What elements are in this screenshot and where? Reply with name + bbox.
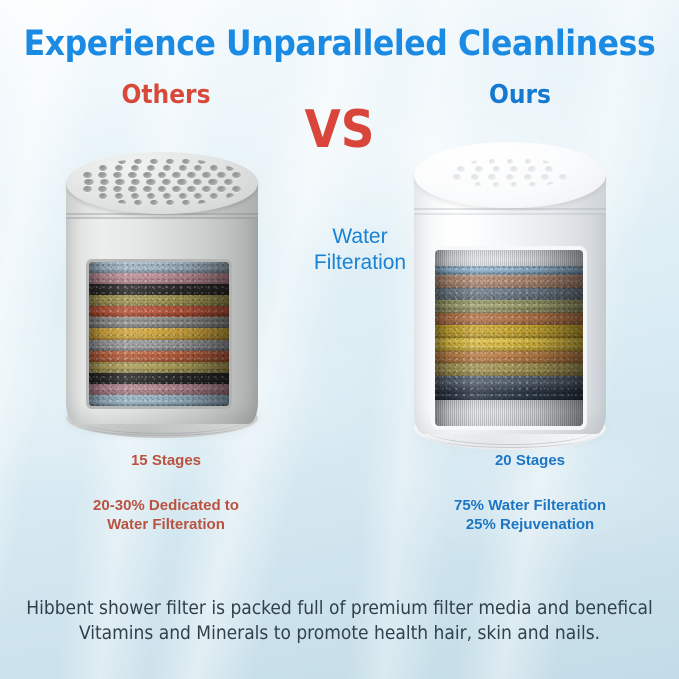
perforation-hole [131,165,139,171]
media-layer [435,351,583,364]
perforation-hole [457,166,465,172]
perforation-hole [545,166,553,172]
stages-count-ours: 20 Stages [380,452,679,470]
perforation-hole [507,159,514,164]
perforation-hole [99,165,107,171]
stages-count-others: 15 Stages [16,452,316,470]
media-layer [435,288,583,301]
perforation-hole [182,200,189,205]
perforation-hole [147,193,155,199]
perforation-hole [226,165,234,171]
perforation-hole [143,186,152,192]
media-layer [435,363,583,376]
perforation-hole [131,179,141,186]
perforation-hole [98,186,107,192]
perforation-hole [232,172,241,178]
perforation-hole [198,200,205,205]
perforation-hole [529,182,536,187]
media-layer [435,376,583,389]
media-layer [89,273,229,284]
filter-cap-ours [414,142,606,208]
perforation-hole [163,165,171,171]
perforation-hole [115,193,123,199]
filter-body-ours [414,188,606,434]
perforation-hole [118,200,125,205]
perforation-hole [232,186,241,192]
media-layer [89,362,229,373]
media-layer [89,384,229,395]
perforation-hole [210,193,218,199]
filter-cartridge-ours [414,142,606,434]
center-feature-label-line1: Water [332,225,387,248]
media-layer [435,300,583,313]
mesh-screen-top-ours [435,250,583,266]
media-layer [89,373,229,384]
perforation-hole [163,193,171,199]
perforation-hole [128,172,137,178]
media-layer [89,328,229,339]
perforation-hole [493,166,501,172]
center-feature-label-line2: Filteration [314,251,406,274]
perforation-hole [100,179,110,186]
perforation-hole [547,182,554,187]
infographic-canvas: Experience Unparalleled Cleanliness Othe… [0,0,679,679]
caption-ours: 20 Stages 75% Water Filteration 25% Reju… [380,452,679,534]
perforation-hole [471,174,479,180]
detail-ours-line1: 75% Water Filteration [454,497,606,514]
perforation-hole [187,186,196,192]
perforation-hole [541,174,549,180]
perforation-hole [177,179,187,186]
perforation-hole [134,159,141,164]
perforation-hole [118,159,125,164]
perforation-hole [194,165,202,171]
perforation-hole [166,200,173,205]
perforation-hole [179,165,187,171]
perforation-hole [98,172,107,178]
perforation-holes-ours [448,158,572,188]
perforation-hole [511,182,518,187]
perforation-hole [113,172,122,178]
perforation-hole [131,193,139,199]
perforation-hole [528,166,536,172]
perforation-hole [471,159,478,164]
mesh-screen-bottom-ours [435,400,583,426]
footer-line1: Hibbent shower filter is packed full of … [26,597,653,619]
filter-cap-others [66,152,258,214]
perforation-hole [524,174,532,180]
perforation-hole [217,172,226,178]
media-layer [435,275,583,288]
media-layer [89,306,229,317]
perforation-hole [172,186,181,192]
perforation-hole [187,172,196,178]
detail-others-line2: Water Filteration [107,516,225,533]
detail-others: 20-30% Dedicated to Water Filteration [16,496,316,534]
media-layer [435,338,583,351]
perforation-hole [115,179,125,186]
perforation-hole [84,179,94,186]
perforation-hole [559,174,567,180]
media-layer [89,340,229,351]
perforation-hole [143,172,152,178]
perforation-hole [134,200,141,205]
perforation-hole [158,172,167,178]
perforation-hole [99,193,107,199]
media-window-others [89,262,229,406]
perforation-hole [208,179,218,186]
media-layer [435,325,583,338]
perforation-hole [150,200,157,205]
perforation-hole [489,159,496,164]
perforation-hole [202,186,211,192]
perforation-hole [162,179,172,186]
media-window-ours [435,250,583,426]
perforation-hole [113,186,122,192]
filter-cartridge-others [66,152,258,424]
detail-others-line1: 20-30% Dedicated to [93,497,239,514]
perforation-hole [475,166,483,172]
perforation-hole [475,182,482,187]
detail-ours-line2: 25% Rejuvenation [466,516,594,533]
perforation-hole [510,166,518,172]
media-layer [89,317,229,328]
perforation-hole [172,172,181,178]
media-layer [89,262,229,273]
perforation-hole [128,186,137,192]
perforation-hole [488,174,496,180]
perforation-hole [210,165,218,171]
perforation-hole [224,179,234,186]
media-layer [435,313,583,326]
perforation-hole [146,179,156,186]
perforation-hole [179,193,187,199]
perforation-hole [506,174,514,180]
caption-others: 15 Stages 20-30% Dedicated to Water Filt… [16,452,316,534]
perforation-hole [525,159,532,164]
perforation-hole [83,186,92,192]
perforation-hole [198,159,205,164]
media-layer [89,295,229,306]
perforation-hole [226,193,234,199]
filter-body-others [66,196,258,424]
perforation-hole [217,186,226,192]
perforation-hole [194,193,202,199]
perforation-hole [493,182,500,187]
media-layer [89,284,229,295]
perforation-hole [147,165,155,171]
detail-ours: 75% Water Filteration 25% Rejuvenation [380,496,679,534]
perforation-hole [543,159,550,164]
perforation-hole [453,174,461,180]
perforation-hole [150,159,157,164]
perforation-hole [83,172,92,178]
perforation-hole [193,179,203,186]
footer-description: Hibbent shower filter is packed full of … [0,596,679,647]
perforation-hole [158,186,167,192]
media-layer-stack-others [89,262,229,406]
perforation-hole [115,165,123,171]
media-layer [89,351,229,362]
perforation-holes-others [74,158,250,206]
perforation-hole [202,172,211,178]
page-title: Experience Unparalleled Cleanliness [0,24,679,64]
perforation-hole [166,159,173,164]
perforation-hole [182,159,189,164]
media-layer [89,395,229,406]
footer-line2: Vitamins and Minerals to promote health … [79,622,600,644]
